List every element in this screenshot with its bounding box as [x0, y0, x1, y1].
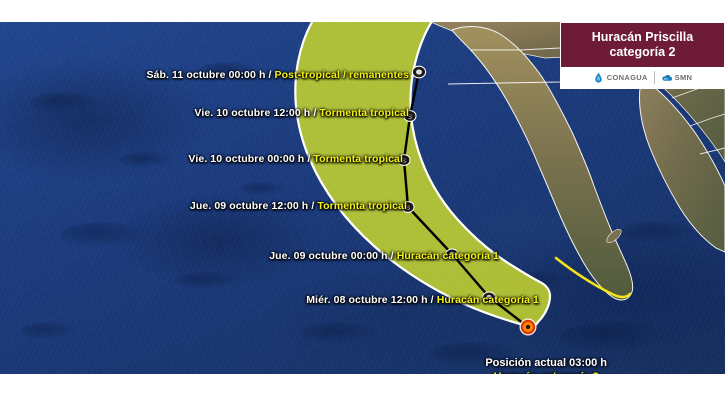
- current-position-line2: Huracán categoría 2: [485, 370, 607, 374]
- conagua-logo-group: CONAGUA: [593, 72, 648, 83]
- track-label-3-date: Jue. 09 octubre 12:00 h: [190, 200, 308, 212]
- track-label-0-category: Post-tropical / remanentes: [275, 69, 409, 81]
- banner-title: Huracán Priscilla categoría 2: [561, 23, 724, 66]
- agency-logos: CONAGUA SMN: [561, 66, 724, 88]
- track-label-2: Vie. 10 octubre 00:00 h / Tormenta tropi…: [188, 153, 403, 165]
- current-position-marker: [520, 319, 537, 336]
- current-position-line1: Posición actual 03:00 h: [485, 356, 607, 370]
- track-label-1: Vie. 10 octubre 12:00 h / Tormenta tropi…: [194, 107, 409, 119]
- track-label-2-date: Vie. 10 octubre 00:00 h: [188, 153, 304, 165]
- track-label-5-category: Huracán categoría 1: [437, 294, 539, 306]
- track-label-2-category: Tormenta tropical: [313, 153, 403, 165]
- conagua-logo-label: CONAGUA: [607, 73, 648, 82]
- smn-logo-group: SMN: [661, 72, 693, 83]
- track-label-5-date: Miér. 08 octubre 12:00 h: [306, 294, 427, 306]
- track-label-4-date: Jue. 09 octubre 00:00 h: [269, 250, 387, 262]
- smn-logo-icon: [661, 72, 672, 83]
- track-label-3: Jue. 09 octubre 12:00 h / Tormenta tropi…: [190, 200, 407, 212]
- track-label-5-separator: /: [428, 294, 437, 306]
- track-label-4: Jue. 09 octubre 00:00 h / Huracán catego…: [269, 250, 499, 262]
- track-label-0-separator: /: [265, 69, 274, 81]
- track-label-0: Sáb. 11 octubre 00:00 h / Post-tropical …: [146, 69, 409, 81]
- track-label-4-category: Huracán categoría 1: [397, 250, 499, 262]
- track-label-3-category: Tormenta tropical: [317, 200, 407, 212]
- track-label-1-date: Vie. 10 octubre 12:00 h: [194, 107, 310, 119]
- track-line: [404, 72, 528, 327]
- logo-divider: [654, 71, 655, 84]
- post-tropical-node: [412, 66, 425, 78]
- track-label-5: Miér. 08 octubre 12:00 h / Huracán categ…: [306, 294, 539, 306]
- conagua-logo-icon: [593, 72, 604, 83]
- title-banner: Huracán Priscilla categoría 2 CONAGUA SM…: [560, 22, 725, 89]
- track-label-4-separator: /: [388, 250, 397, 262]
- banner-title-line1: Huracán Priscilla: [565, 30, 720, 45]
- current-position-label: Posición actual 03:00 h Huracán categorí…: [485, 356, 607, 374]
- track-label-0-date: Sáb. 11 octubre 00:00 h: [146, 69, 265, 81]
- track-label-1-category: Tormenta tropical: [319, 107, 409, 119]
- hurricane-forecast-graphic: S S S: [0, 0, 725, 400]
- banner-title-line2: categoría 2: [565, 45, 720, 60]
- smn-logo-label: SMN: [675, 73, 693, 82]
